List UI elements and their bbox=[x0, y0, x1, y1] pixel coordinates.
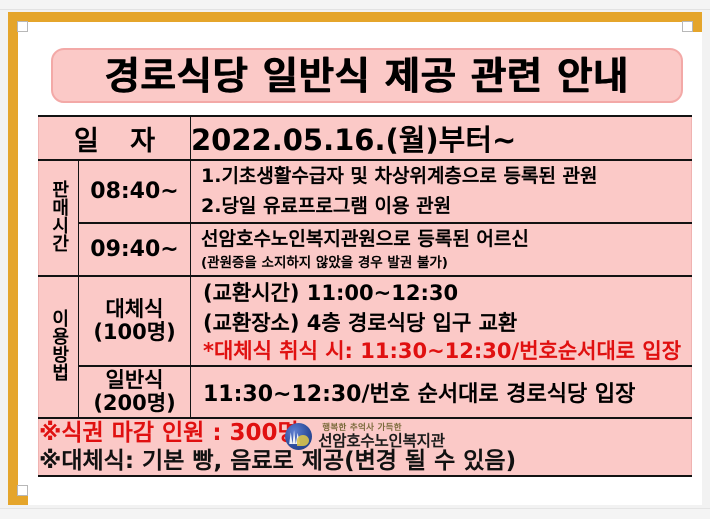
poster-canvas: 경로식당 일반식 제공 관련 안내 일 자 2022.05.16.(월)부터~ bbox=[28, 32, 702, 505]
sales-time-desc-1-line-2: 2.당일 유료프로그램 이용 관원 bbox=[191, 191, 691, 221]
sales-time-header-label: 판매시간 bbox=[49, 180, 67, 252]
resize-handle-top-right[interactable] bbox=[682, 21, 693, 32]
usage-desc-1: (교환시간) 11:00~12:30 (교환장소) 4층 경로식당 입구 교환 … bbox=[191, 276, 692, 365]
date-label-cell: 일 자 bbox=[39, 116, 191, 160]
usage-meal-type-2-name: 일반식 bbox=[79, 369, 190, 392]
usage-meal-type-1-name: 대체식 bbox=[79, 298, 190, 321]
poster-title-banner: 경로식당 일반식 제공 관련 안내 bbox=[51, 48, 683, 103]
table-row-usage-2: 일반식 (200명) 11:30~12:30/번호 순서대로 경로식당 입장 bbox=[39, 366, 692, 418]
usage-desc-1-line-1: (교환시간) 11:00~12:30 bbox=[191, 277, 691, 307]
sales-time-value-1: 08:40~ bbox=[79, 160, 191, 223]
note-item-2: ※대체식: 기본 빵, 음료로 제공(변경 될 수 있음) bbox=[39, 447, 691, 475]
resize-handle-bottom-left[interactable] bbox=[17, 485, 28, 496]
sales-time-desc-2-note: (관원증을 소지하지 않았을 경우 발권 불가) bbox=[191, 254, 691, 275]
poster-page: 경로식당 일반식 제공 관련 안내 일 자 2022.05.16.(월)부터~ bbox=[0, 0, 710, 519]
page-title: 경로식당 일반식 제공 관련 안내 bbox=[105, 57, 629, 95]
date-value-cell: 2022.05.16.(월)부터~ bbox=[191, 116, 692, 160]
resize-handle-top-left[interactable] bbox=[17, 21, 28, 32]
window-top-strip bbox=[0, 0, 710, 10]
usage-meal-type-1-capacity: (100명) bbox=[79, 321, 190, 344]
table-row-date: 일 자 2022.05.16.(월)부터~ bbox=[39, 116, 692, 160]
sales-time-value-2: 09:40~ bbox=[79, 223, 191, 277]
window-bottom-strip bbox=[0, 508, 710, 519]
usage-method-header-label: 이용방법 bbox=[49, 309, 67, 381]
sales-time-desc-1-line-1: 1.기초생활수급자 및 차상위계층으로 등록된 관원 bbox=[191, 161, 691, 191]
sales-time-desc-2-line-1: 선암호수노인복지관원으로 등록된 어르신 bbox=[191, 224, 691, 254]
footer-logo-text: 행복한 추억사 가득한 선암호수노인복지관 bbox=[318, 424, 445, 449]
usage-meal-type-2-capacity: (200명) bbox=[79, 392, 190, 415]
sales-time-desc-1: 1.기초생활수급자 및 차상위계층으로 등록된 관원 2.당일 유료프로그램 이… bbox=[191, 160, 692, 223]
usage-desc-1-red-note: *대체식 취식 시: 11:30~12:30/번호순서대로 입장 bbox=[191, 337, 691, 364]
sales-time-header-cell: 판매시간 bbox=[39, 160, 79, 276]
usage-desc-1-line-2: (교환장소) 4층 경로식당 입구 교환 bbox=[191, 307, 691, 337]
table-row-usage-1: 이용방법 대체식 (100명) (교환시간) 11:00~12:30 (교환장소… bbox=[39, 276, 692, 365]
table-row-sales-time-2: 09:40~ 선암호수노인복지관원으로 등록된 어르신 (관원증을 소지하지 않… bbox=[39, 223, 692, 277]
usage-desc-2: 11:30~12:30/번호 순서대로 경로식당 입장 bbox=[191, 366, 692, 418]
usage-meal-type-2: 일반식 (200명) bbox=[79, 366, 191, 418]
footer-logo: 행복한 추억사 가득한 선암호수노인복지관 bbox=[28, 423, 702, 450]
organization-emblem-icon bbox=[285, 423, 312, 450]
footer-organization-name: 선암호수노인복지관 bbox=[318, 434, 445, 450]
usage-method-header-cell: 이용방법 bbox=[39, 276, 79, 417]
sales-time-desc-2: 선암호수노인복지관원으로 등록된 어르신 (관원증을 소지하지 않았을 경우 발… bbox=[191, 223, 692, 277]
slide-gold-frame[interactable]: 경로식당 일반식 제공 관련 안내 일 자 2022.05.16.(월)부터~ bbox=[8, 12, 702, 505]
usage-desc-2-line-1: 11:30~12:30/번호 순서대로 경로식당 입장 bbox=[191, 367, 691, 417]
table-row-sales-time-1: 판매시간 08:40~ 1.기초생활수급자 및 차상위계층으로 등록된 관원 2… bbox=[39, 160, 692, 223]
usage-meal-type-1: 대체식 (100명) bbox=[79, 276, 191, 365]
